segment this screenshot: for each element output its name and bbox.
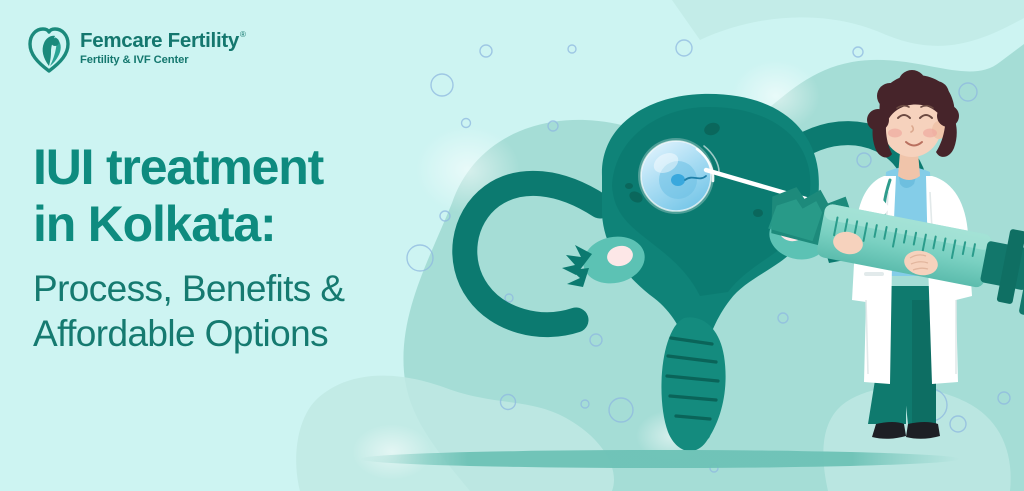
doctor-cheek-left	[888, 129, 902, 138]
page-title: IUI treatment in Kolkata:	[33, 139, 344, 253]
doctor-shoe-left	[872, 422, 906, 439]
iui-treatment-banner: Femcare Fertility ® Fertility & IVF Cent…	[0, 0, 1024, 491]
heart-woman-silhouette-icon	[27, 24, 71, 74]
doctor-shoe-right	[906, 422, 940, 439]
subheadline-line-1: Process, Benefits &	[33, 266, 344, 311]
subheadline-line-2: Affordable Options	[33, 311, 344, 356]
brand-name: Femcare Fertility	[80, 30, 239, 52]
brand-logo-text: Femcare Fertility ® Fertility & IVF Cent…	[80, 30, 246, 68]
brand-tagline: Fertility & IVF Center	[80, 54, 246, 67]
page-subtitle: Process, Benefits & Affordable Options	[33, 266, 344, 356]
registered-trademark-mark: ®	[240, 31, 246, 39]
headline-line-2: in Kolkata:	[33, 196, 344, 253]
doctor-cheek-right	[923, 129, 937, 138]
banner-copy-block: IUI treatment in Kolkata: Process, Benef…	[33, 139, 344, 356]
ground-shadow-ellipse	[360, 450, 960, 468]
headline-line-1: IUI treatment	[33, 139, 344, 196]
brand-logo[interactable]: Femcare Fertility ® Fertility & IVF Cent…	[27, 24, 246, 74]
